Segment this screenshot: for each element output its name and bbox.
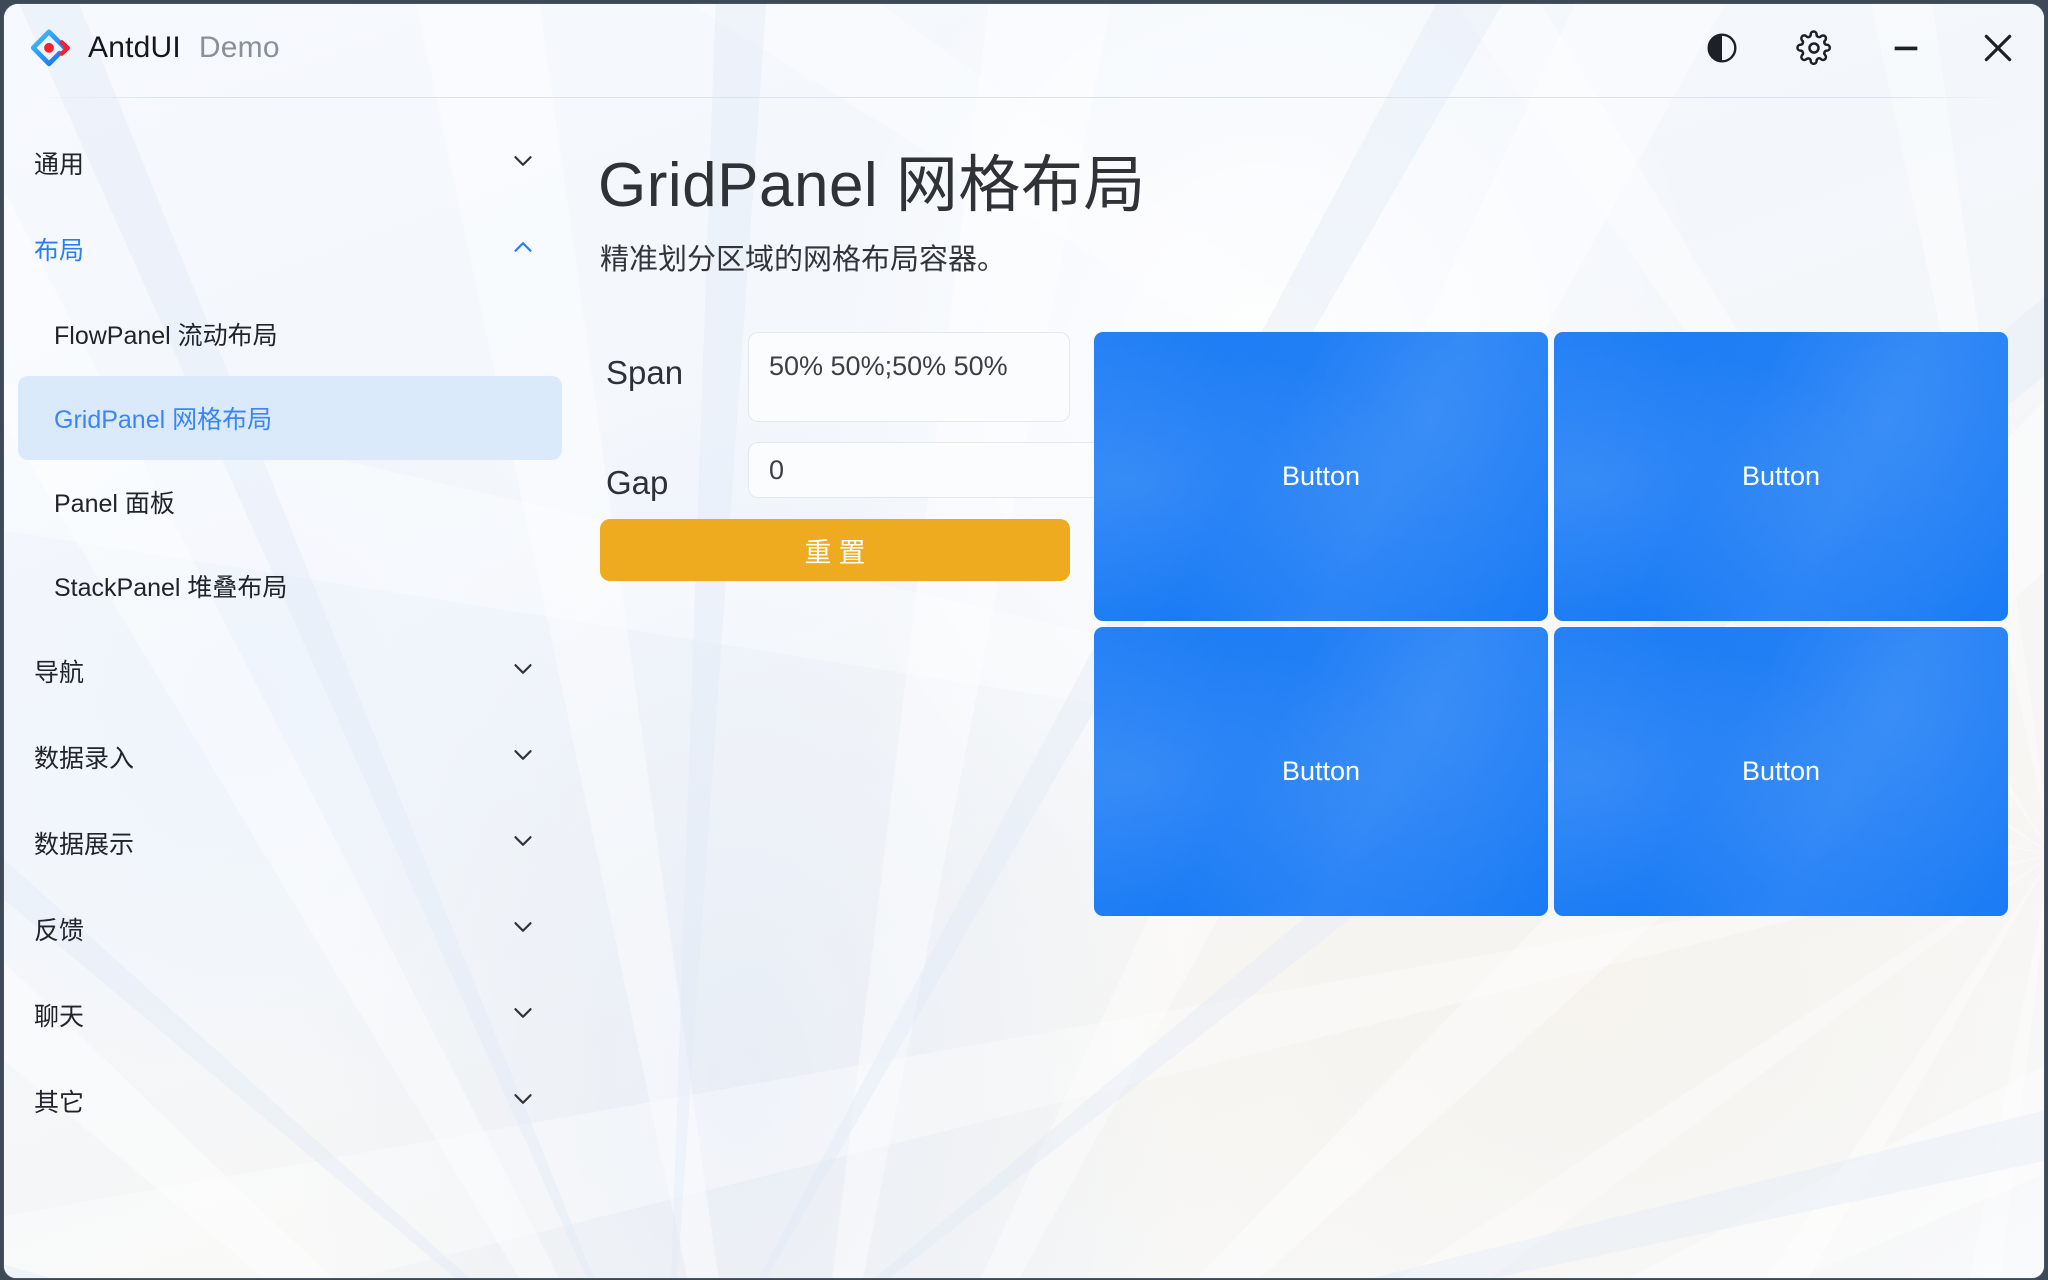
grid-cell-button[interactable]: Button (1554, 332, 2008, 621)
chevron-down-icon (508, 998, 538, 1033)
minimize-button[interactable] (1860, 4, 1952, 92)
close-icon (1978, 28, 2018, 68)
app-brand: AntdUI Demo (4, 27, 280, 69)
span-field-row: Span (600, 332, 1070, 422)
span-label: Span (600, 332, 748, 389)
page-title: GridPanel 网格布局 (598, 134, 2008, 224)
sidebar-item-label: Panel 面板 (54, 484, 175, 520)
settings-form: Span Gap 重置 (600, 332, 1070, 916)
window-controls (1676, 4, 2044, 92)
app-subtitle: Demo (199, 31, 280, 65)
sidebar-group-label: 通用 (34, 145, 84, 181)
sidebar-group-label: 其它 (34, 1083, 84, 1119)
grid-cell-button[interactable]: Button (1094, 627, 1548, 916)
header-divider (38, 97, 2008, 98)
sidebar-item-flowpanel[interactable]: FlowPanel 流动布局 (18, 292, 562, 376)
grid-cell-label: Button (1282, 756, 1360, 787)
chevron-down-icon (508, 146, 538, 181)
grid-panel-preview: Button Button Button Button (1094, 332, 2008, 916)
grid-cell-button[interactable]: Button (1554, 627, 2008, 916)
sidebar-item-gridpanel[interactable]: GridPanel 网格布局 (18, 376, 562, 460)
minimize-icon (1889, 31, 1923, 65)
sidebar-group-label: 数据展示 (34, 825, 134, 861)
sidebar-group-label: 导航 (34, 653, 84, 689)
close-button[interactable] (1952, 4, 2044, 92)
theme-toggle-button[interactable] (1676, 4, 1768, 92)
chevron-down-icon (508, 1084, 538, 1119)
grid-cell-button[interactable]: Button (1094, 332, 1548, 621)
sidebar-item-label: GridPanel 网格布局 (54, 400, 272, 436)
sidebar-group-chat[interactable]: 聊天 (4, 972, 576, 1058)
grid-cell-label: Button (1282, 461, 1360, 492)
sidebar-item-label: StackPanel 堆叠布局 (54, 568, 287, 604)
gap-field-row: Gap (600, 442, 1070, 499)
sidebar-group-general[interactable]: 通用 (4, 120, 576, 206)
title-bar: AntdUI Demo (4, 4, 2044, 92)
demo-area: Span Gap 重置 Button Button Button (588, 332, 2008, 916)
sidebar-item-panel[interactable]: Panel 面板 (18, 460, 562, 544)
chevron-down-icon (508, 654, 538, 689)
main-content: GridPanel 网格布局 精准划分区域的网格布局容器。 Span Gap 重… (576, 104, 2044, 1278)
app-window: AntdUI Demo (4, 4, 2044, 1278)
gear-icon (1796, 30, 1832, 66)
sidebar-group-label: 聊天 (34, 997, 84, 1033)
sidebar-group-layout[interactable]: 布局 (4, 206, 576, 292)
sidebar-item-label: FlowPanel 流动布局 (54, 316, 278, 352)
reset-button[interactable]: 重置 (600, 519, 1070, 581)
sidebar: 通用 布局 FlowPanel 流动布局 GridPanel 网格布局 Pane… (4, 104, 576, 1278)
contrast-icon (1705, 31, 1739, 65)
sidebar-group-data-display[interactable]: 数据展示 (4, 800, 576, 886)
page-description: 精准划分区域的网格布局容器。 (600, 236, 2008, 278)
grid-cell-label: Button (1742, 461, 1820, 492)
antdui-logo-icon (28, 27, 70, 69)
app-title: AntdUI (88, 31, 181, 65)
sidebar-group-feedback[interactable]: 反馈 (4, 886, 576, 972)
settings-button[interactable] (1768, 4, 1860, 92)
chevron-down-icon (508, 912, 538, 947)
chevron-down-icon (508, 740, 538, 775)
sidebar-group-data-entry[interactable]: 数据录入 (4, 714, 576, 800)
sidebar-group-other[interactable]: 其它 (4, 1058, 576, 1144)
sidebar-group-navigation[interactable]: 导航 (4, 628, 576, 714)
grid-cell-label: Button (1742, 756, 1820, 787)
sidebar-item-stackpanel[interactable]: StackPanel 堆叠布局 (18, 544, 562, 628)
span-input[interactable] (748, 332, 1070, 422)
gap-input[interactable] (748, 442, 1144, 498)
sidebar-group-label: 数据录入 (34, 739, 134, 775)
sidebar-group-label: 反馈 (34, 911, 84, 947)
gap-label: Gap (600, 442, 748, 499)
chevron-down-icon (508, 826, 538, 861)
sidebar-group-label: 布局 (34, 231, 84, 267)
chevron-up-icon (508, 232, 538, 267)
